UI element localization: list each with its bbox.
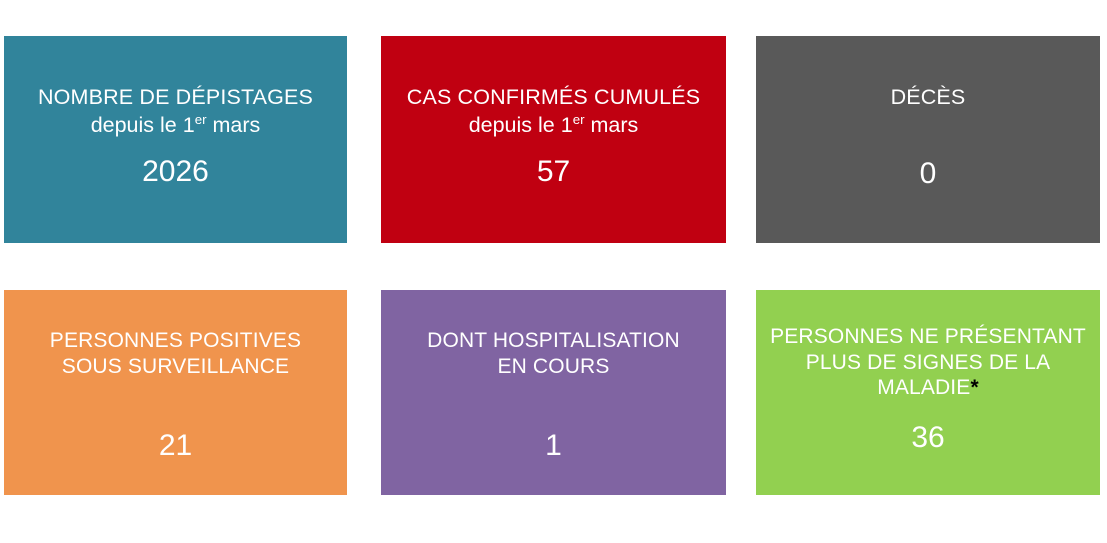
kpi-subtitle-superscript-depistages: er (195, 112, 207, 127)
kpi-title-deces: DÉCÈS (891, 84, 966, 110)
kpi-card-gueris[interactable]: PERSONNES NE PRÉSENTANT PLUS DE SIGNES D… (756, 290, 1100, 495)
kpi-title-cas-confirmes: CAS CONFIRMÉS CUMULÉS (407, 84, 700, 110)
kpi-title-text-gueris: PERSONNES NE PRÉSENTANT PLUS DE SIGNES D… (770, 325, 1086, 399)
kpi-card-cas-confirmes[interactable]: CAS CONFIRMÉS CUMULÉS depuis le 1er mars… (381, 36, 726, 243)
kpi-title-hospitalisation: DONT HOSPITALISATION EN COURS (427, 328, 680, 379)
kpi-card-depistages[interactable]: NOMBRE DE DÉPISTAGES depuis le 1er mars … (4, 36, 347, 243)
kpi-subtitle-suffix-cas-confirmes: mars (585, 113, 639, 137)
kpi-title-positives-surveillance: PERSONNES POSITIVES SOUS SURVEILLANCE (50, 328, 301, 379)
kpi-value-deces: 0 (920, 159, 937, 189)
kpi-card-deces[interactable]: DÉCÈS 0 (756, 36, 1100, 243)
kpi-title-gueris: PERSONNES NE PRÉSENTANT PLUS DE SIGNES D… (770, 324, 1086, 401)
kpi-value-hospitalisation: 1 (545, 431, 562, 461)
kpi-value-positives-surveillance: 21 (159, 431, 192, 461)
kpi-value-depistages: 2026 (142, 157, 209, 187)
kpi-subtitle-prefix-depistages: depuis le 1 (91, 113, 195, 137)
kpi-dashboard: NOMBRE DE DÉPISTAGES depuis le 1er mars … (0, 0, 1107, 543)
kpi-card-hospitalisation[interactable]: DONT HOSPITALISATION EN COURS 1 (381, 290, 726, 495)
kpi-subtitle-depistages: depuis le 1er mars (91, 112, 261, 138)
kpi-card-positives-surveillance[interactable]: PERSONNES POSITIVES SOUS SURVEILLANCE 21 (4, 290, 347, 495)
kpi-subtitle-suffix-depistages: mars (207, 113, 261, 137)
kpi-title-asterisk-gueris: * (970, 376, 978, 399)
kpi-subtitle-prefix-cas-confirmes: depuis le 1 (469, 113, 573, 137)
kpi-subtitle-superscript-cas-confirmes: er (573, 112, 585, 127)
kpi-value-cas-confirmes: 57 (537, 157, 570, 187)
kpi-subtitle-cas-confirmes: depuis le 1er mars (469, 112, 639, 138)
kpi-value-gueris: 36 (911, 423, 944, 453)
kpi-title-depistages: NOMBRE DE DÉPISTAGES (38, 84, 313, 110)
